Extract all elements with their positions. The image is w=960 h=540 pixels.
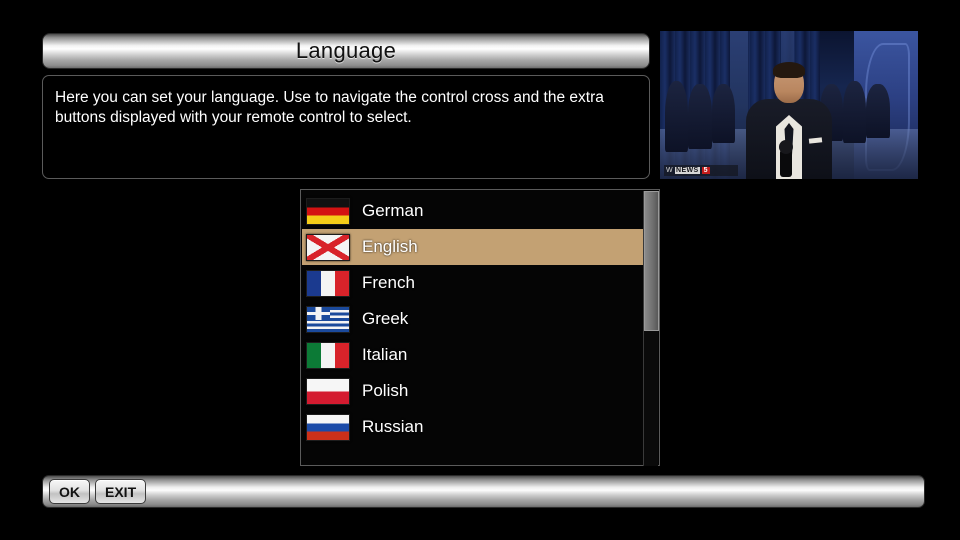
flag-greece-icon [306,306,350,333]
video-preview[interactable]: W NEWS 5 [660,31,918,179]
flag-germany-icon [306,198,350,225]
language-row-german[interactable]: German [302,193,644,229]
list-scrollbar-track[interactable] [643,191,658,466]
microphone-icon [780,147,792,177]
language-label: English [362,237,418,257]
language-label: Polish [362,381,408,401]
language-list-panel[interactable]: GermanEnglishFrenchGreekItalianPolishRus… [300,189,660,466]
union-jack-cross [307,235,349,260]
list-scrollbar-thumb[interactable] [644,191,659,331]
exit-button[interactable]: EXIT [95,479,146,504]
news-logo-part-3: 5 [702,167,710,174]
ok-button[interactable]: OK [49,479,90,504]
video-reporter [743,61,835,179]
video-crowd-figure [866,84,889,137]
video-crowd-figure [843,81,866,143]
news-logo-part-2: NEWS [675,167,700,174]
video-crowd-figure [688,84,711,149]
news-channel-logo: W NEWS 5 [664,165,738,176]
footer-button-bar: OK EXIT [42,475,925,508]
language-label: French [362,273,415,293]
language-row-italian[interactable]: Italian [302,337,644,373]
language-row-french[interactable]: French [302,265,644,301]
language-label: Italian [362,345,407,365]
flag-poland-icon [306,378,350,405]
tv-settings-screen: Language Here you can set your language.… [0,0,960,540]
flag-italy-icon [306,342,350,369]
window-title-bar: Language [42,33,650,69]
language-label: Russian [362,417,423,437]
language-label: Greek [362,309,408,329]
flag-france-icon [306,270,350,297]
language-list[interactable]: GermanEnglishFrenchGreekItalianPolishRus… [302,193,644,445]
video-crowd-figure [665,81,688,152]
description-panel: Here you can set your language. Use to n… [42,75,650,179]
language-row-russian[interactable]: Russian [302,409,644,445]
language-row-english[interactable]: English [302,229,644,265]
description-text: Here you can set your language. Use to n… [55,88,635,129]
video-crowd-figure [712,84,735,143]
page-title: Language [296,38,396,64]
flag-russia-icon [306,414,350,441]
language-row-polish[interactable]: Polish [302,373,644,409]
flag-united-kingdom-icon [306,234,350,261]
news-logo-part-1: W [666,167,673,174]
language-label: German [362,201,423,221]
language-row-greek[interactable]: Greek [302,301,644,337]
reporter-hair [773,62,805,78]
